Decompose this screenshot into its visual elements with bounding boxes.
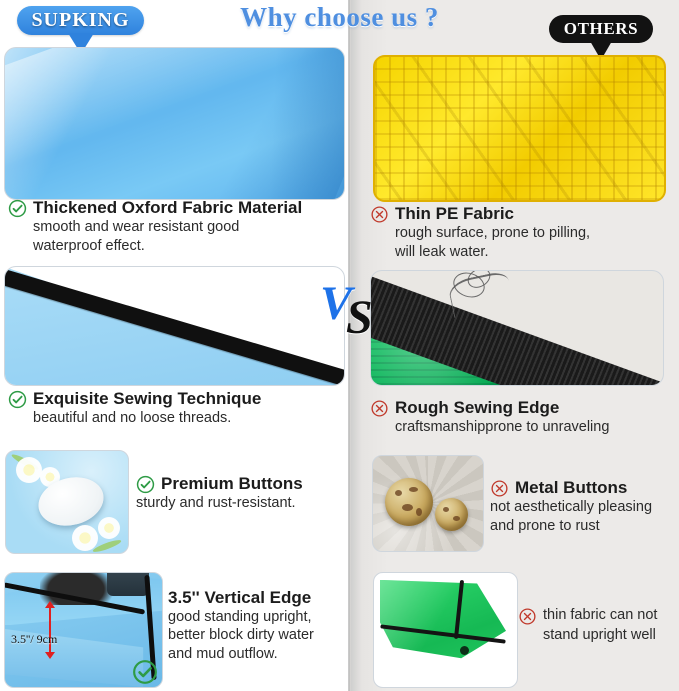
feature-body-line: good standing upright, <box>168 608 344 627</box>
drawback-body-line: thin fabric can not <box>543 606 657 625</box>
drawback-title: Metal Buttons <box>515 478 627 498</box>
cross-circle-icon <box>370 399 389 418</box>
drawback-heading-row: thin fabric can not <box>518 606 678 626</box>
drawback-body-line: craftsmanshipprone to unraveling <box>395 418 675 437</box>
feature-title: Thickened Oxford Fabric Material <box>33 198 302 218</box>
versus-mark: V S <box>320 278 382 344</box>
rust-spot <box>409 487 418 492</box>
white-oval-button-photo <box>5 450 129 554</box>
rusty-button-large <box>385 478 433 526</box>
rusty-metal-buttons-photo <box>372 455 484 552</box>
feature-title: Premium Buttons <box>161 474 303 494</box>
check-circle-icon <box>8 199 27 218</box>
column-divider <box>349 0 351 691</box>
feature-heading-row: Thickened Oxford Fabric Material <box>8 198 344 218</box>
drawback-heading-row: Rough Sewing Edge <box>370 398 675 418</box>
feature-heading-row: Premium Buttons <box>136 474 344 494</box>
rust-spot <box>395 490 402 496</box>
weave-diagonal-texture <box>373 55 666 202</box>
flower-decor <box>72 525 98 551</box>
check-circle-icon <box>8 390 27 409</box>
drawback-body-line: and prone to rust <box>490 517 676 536</box>
feature-block-vertical-edge: 3.5'' Vertical Edge good standing uprigh… <box>168 588 344 663</box>
check-circle-icon <box>132 659 158 685</box>
yellow-woven-pe-fabric-photo <box>373 55 666 202</box>
drawback-title: Thin PE Fabric <box>395 204 514 224</box>
frayed-black-binding-green-fabric-photo <box>370 270 664 386</box>
feature-block-oxford-fabric: Thickened Oxford Fabric Material smooth … <box>8 198 344 255</box>
drawback-block-metal-buttons: Metal Buttons not aesthetically pleasing… <box>490 478 676 535</box>
drawback-heading-row: Metal Buttons <box>490 478 676 498</box>
measurement-label: 3.5''/ 9cm <box>11 632 57 647</box>
others-badge: OTHERS <box>549 15 653 43</box>
drawback-body-line: rough surface, prone to pilling, <box>395 224 675 243</box>
feature-body-line: beautiful and no loose threads. <box>33 409 344 428</box>
infographic-page: Why choose us ? SUPKING OTHERS 3.5''/ 9 <box>0 0 679 691</box>
check-circle-icon <box>136 475 155 494</box>
drawback-body-line: not aesthetically pleasing <box>490 498 676 517</box>
blue-oxford-fabric-photo <box>4 47 345 200</box>
cross-circle-icon <box>518 607 537 626</box>
drawback-block-rough-sewing-edge: Rough Sewing Edge craftsmanshipprone to … <box>370 398 675 437</box>
feature-block-sewing-technique: Exquisite Sewing Technique beautiful and… <box>8 389 344 428</box>
rust-spot <box>416 508 422 516</box>
neat-black-binding-sewing-photo <box>4 266 345 386</box>
brand-badge-label: SUPKING <box>31 9 129 32</box>
rusty-button-small <box>435 498 468 531</box>
vertical-edge-with-soil-photo: 3.5''/ 9cm <box>4 572 163 688</box>
cross-circle-icon <box>370 205 389 224</box>
feature-body-line: sturdy and rust-resistant. <box>136 494 344 513</box>
feature-block-premium-buttons: Premium Buttons sturdy and rust-resistan… <box>136 474 344 513</box>
feature-body-line: waterproof effect. <box>33 237 344 256</box>
drawback-block-thin-fabric-droop: thin fabric can not stand upright well <box>518 606 678 645</box>
grommet-hole <box>460 646 469 655</box>
cross-circle-icon <box>490 479 509 498</box>
rust-spot <box>402 504 413 511</box>
rust-spot <box>453 516 460 521</box>
drawback-body-line: stand upright well <box>543 626 678 645</box>
flower-decor <box>98 517 120 539</box>
rust-spot <box>443 507 449 512</box>
drooping-green-fabric-photo <box>373 572 518 688</box>
others-badge-label: OTHERS <box>564 19 638 39</box>
green-tarp-body <box>380 580 512 671</box>
feature-heading-row: Exquisite Sewing Technique <box>8 389 344 409</box>
versus-s-letter: S <box>346 290 373 345</box>
feature-title: Exquisite Sewing Technique <box>33 389 261 409</box>
feature-title: 3.5'' Vertical Edge <box>168 588 344 608</box>
feature-body-line: smooth and wear resistant good <box>33 218 344 237</box>
plant-pot <box>107 572 149 596</box>
drawback-title: Rough Sewing Edge <box>395 398 559 418</box>
feature-body-line: and mud outflow. <box>168 645 344 664</box>
drawback-body-line: will leak water. <box>395 243 675 262</box>
flower-decor <box>16 457 42 483</box>
feature-body-line: better block dirty water <box>168 626 344 645</box>
drawback-heading-row: Thin PE Fabric <box>370 204 675 224</box>
drawback-block-thin-pe-fabric: Thin PE Fabric rough surface, prone to p… <box>370 204 675 261</box>
brand-badge-supking: SUPKING <box>17 6 144 35</box>
